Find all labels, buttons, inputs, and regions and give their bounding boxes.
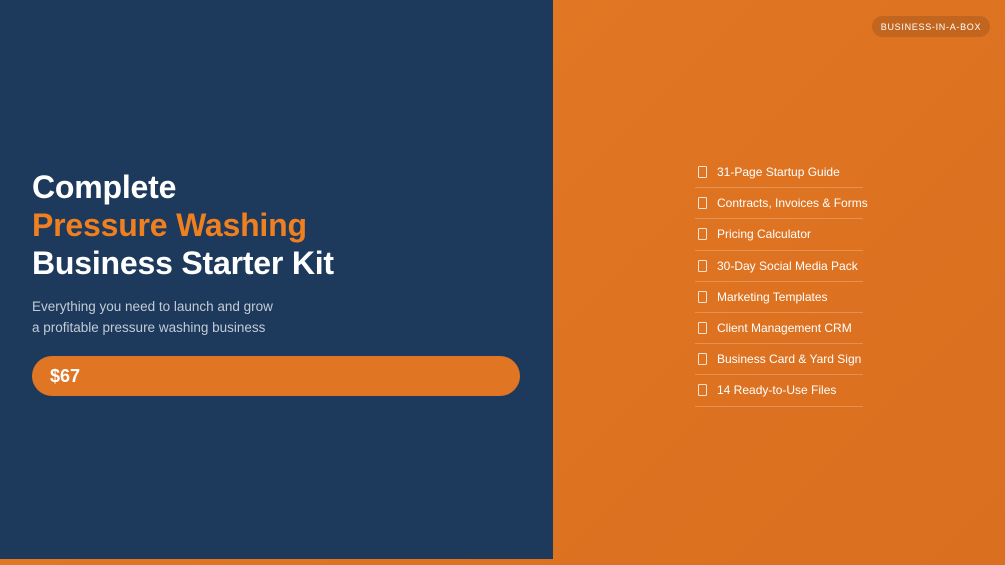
checkbox-empty-icon	[698, 228, 707, 240]
list-item[interactable]: Pricing Calculator	[695, 219, 863, 250]
list-item-label: Client Management CRM	[717, 321, 852, 335]
list-item[interactable]: Contracts, Invoices & Forms	[695, 188, 863, 219]
list-item[interactable]: 31-Page Startup Guide	[695, 157, 863, 188]
checkbox-empty-icon	[698, 353, 707, 365]
list-item[interactable]: Client Management CRM	[695, 313, 863, 344]
hero-section: Complete Pressure Washing Business Start…	[32, 168, 512, 338]
list-item-label: Business Card & Yard Sign	[717, 352, 861, 366]
price-button[interactable]: $67	[32, 356, 520, 396]
feature-list: 31-Page Startup Guide Contracts, Invoice…	[695, 157, 863, 407]
checkbox-empty-icon	[698, 384, 707, 396]
price-amount: $67	[50, 366, 80, 387]
headline-line-3: Business Starter Kit	[32, 245, 334, 281]
business-in-a-box-badge: BUSINESS-IN-A-BOX	[872, 16, 990, 37]
checkbox-empty-icon	[698, 166, 707, 178]
checkbox-empty-icon	[698, 322, 707, 334]
list-item-label: Pricing Calculator	[717, 227, 811, 241]
list-item-label: 31-Page Startup Guide	[717, 165, 840, 179]
badge-label: BUSINESS-IN-A-BOX	[881, 22, 981, 32]
list-item[interactable]: Business Card & Yard Sign	[695, 344, 863, 375]
checkbox-empty-icon	[698, 197, 707, 209]
list-item-label: 30-Day Social Media Pack	[717, 259, 858, 273]
subtitle-line-2: a profitable pressure washing business	[32, 320, 265, 335]
subtitle-line-1: Everything you need to launch and grow	[32, 299, 273, 314]
list-item[interactable]: Marketing Templates	[695, 282, 863, 313]
list-item-label: Contracts, Invoices & Forms	[717, 196, 868, 210]
headline-line-2: Pressure Washing	[32, 207, 307, 243]
hero-subtitle: Everything you need to launch and grow a…	[32, 297, 512, 338]
checkbox-empty-icon	[698, 291, 707, 303]
landing-page: BUSINESS-IN-A-BOX Complete Pressure Wash…	[0, 0, 1005, 565]
page-title: Complete Pressure Washing Business Start…	[32, 168, 512, 282]
list-item-label: Marketing Templates	[717, 290, 828, 304]
list-item[interactable]: 14 Ready-to-Use Files	[695, 375, 863, 406]
list-item[interactable]: 30-Day Social Media Pack	[695, 251, 863, 282]
checkbox-empty-icon	[698, 260, 707, 272]
list-item-label: 14 Ready-to-Use Files	[717, 383, 836, 397]
headline-line-1: Complete	[32, 169, 176, 205]
